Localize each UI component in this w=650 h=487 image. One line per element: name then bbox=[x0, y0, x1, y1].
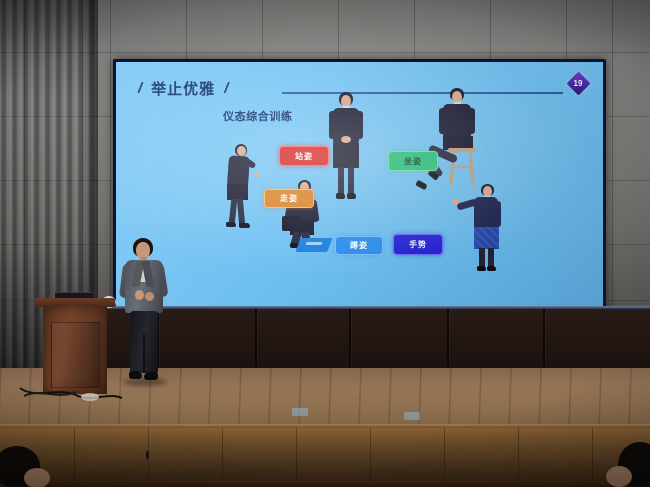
stage-floor-monitor-right bbox=[404, 412, 420, 420]
podium-front-panel bbox=[51, 322, 101, 388]
walking-figure bbox=[220, 144, 260, 232]
stage-front-wall bbox=[0, 424, 650, 487]
under-screen-panel bbox=[95, 306, 650, 370]
stage-floor-monitor-left bbox=[292, 408, 308, 416]
podium bbox=[40, 298, 110, 394]
audience-head-left bbox=[0, 446, 52, 487]
label-sitting: 坐姿 bbox=[388, 151, 438, 171]
presentation-photo-scene: / 举止优雅 / 19 仪态综合训练 bbox=[0, 0, 650, 487]
front-wall-base-rail bbox=[0, 481, 650, 487]
floor-cables bbox=[18, 384, 123, 402]
slide-title: 举止优雅 bbox=[151, 78, 215, 99]
slide-subtitle: 仪态综合训练 bbox=[223, 108, 293, 124]
gesture-figure bbox=[461, 184, 519, 276]
presenter-right-shoe bbox=[144, 372, 158, 380]
presenter-left-shoe bbox=[129, 371, 142, 379]
presenter-leg-gap bbox=[143, 334, 145, 373]
title-slash-icon: / bbox=[138, 81, 142, 96]
title-slash-icon-2: / bbox=[224, 81, 228, 96]
audience-head-right bbox=[606, 442, 650, 487]
blue-folder-object bbox=[295, 238, 333, 252]
label-standing: 站姿 bbox=[279, 146, 329, 166]
slide-page-badge: 19 bbox=[566, 71, 590, 95]
front-wall-shading bbox=[0, 424, 650, 487]
presenter bbox=[117, 238, 171, 390]
slide-page-number: 19 bbox=[566, 71, 590, 95]
label-walking: 走姿 bbox=[264, 189, 314, 208]
presenter-left-hand bbox=[135, 290, 144, 300]
podium-body bbox=[43, 306, 107, 394]
projection-screen: / 举止优雅 / 19 仪态综合训练 bbox=[116, 62, 603, 308]
presenter-right-hand bbox=[145, 292, 154, 301]
panel-top-edge bbox=[95, 306, 650, 309]
slide-title-group: / 举止优雅 / bbox=[138, 78, 228, 99]
label-squatting: 蹲姿 bbox=[335, 236, 383, 255]
label-gesture: 手势 bbox=[393, 234, 443, 255]
